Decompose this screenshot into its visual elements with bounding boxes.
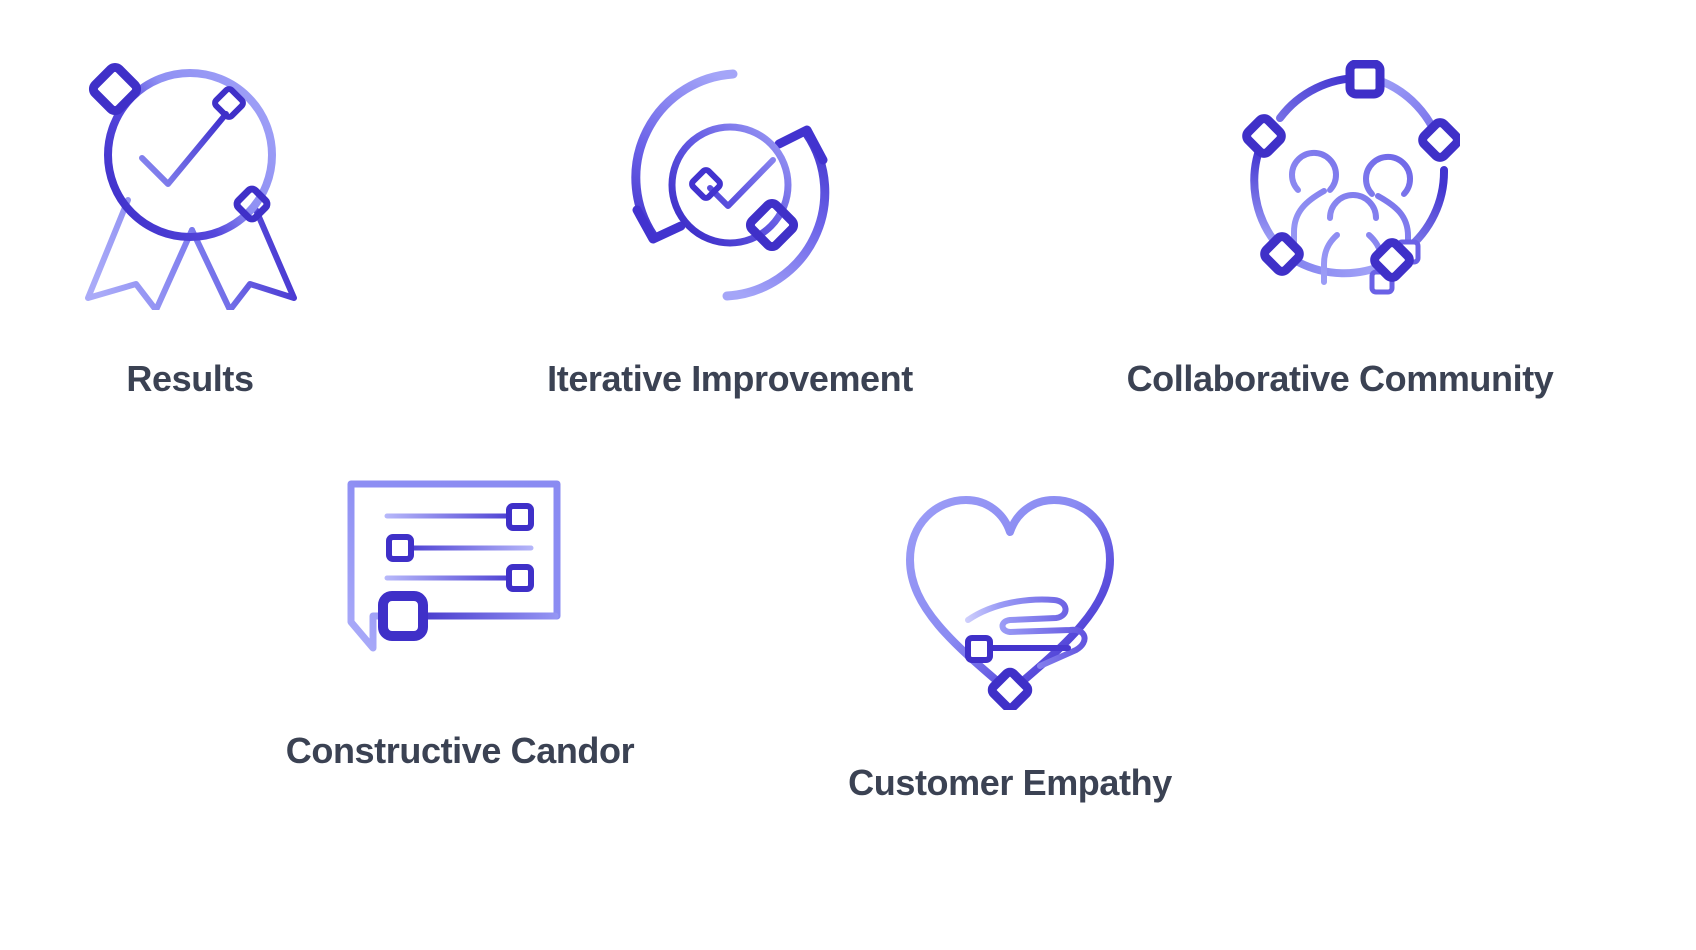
heart-hand-icon — [890, 470, 1130, 710]
speech-bubble-sliders-icon — [345, 470, 575, 660]
network-people-icon — [1220, 60, 1460, 310]
value-card-constructive-candor: Constructive Candor — [180, 470, 740, 772]
value-card-customer-empathy: Customer Empathy — [740, 470, 1280, 804]
value-label-collaborative-community: Collaborative Community — [1127, 358, 1554, 400]
value-card-results: Results — [0, 60, 380, 400]
value-card-iterative-improvement: Iterative Improvement — [430, 60, 1030, 400]
circular-arrows-clock-icon — [615, 60, 845, 310]
value-label-results: Results — [126, 358, 253, 400]
value-card-collaborative-community: Collaborative Community — [1020, 60, 1660, 400]
company-values-graphic: Results — [0, 0, 1696, 950]
value-label-constructive-candor: Constructive Candor — [286, 730, 634, 772]
value-label-iterative-improvement: Iterative Improvement — [547, 358, 913, 400]
value-label-customer-empathy: Customer Empathy — [848, 762, 1172, 804]
award-ribbon-icon — [80, 60, 300, 310]
